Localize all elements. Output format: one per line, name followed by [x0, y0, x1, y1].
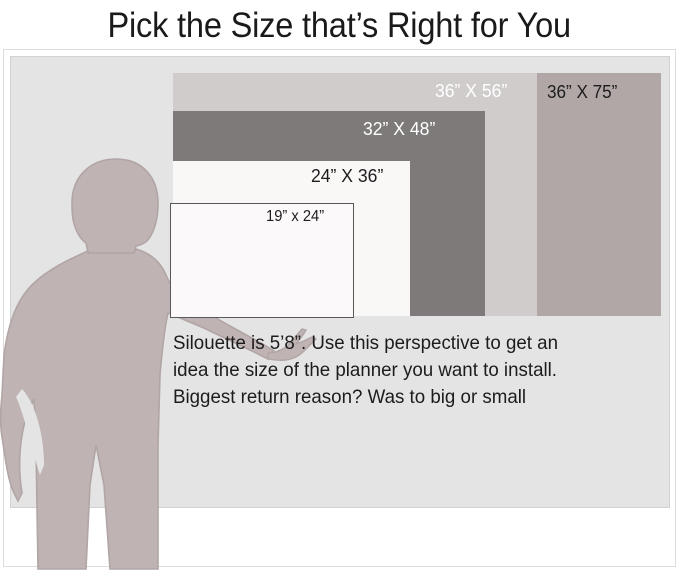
size-label-24x36: 24” X 36” — [311, 165, 383, 187]
caption-line-1: Silouette is 5’8”. Use this perspective … — [173, 330, 632, 357]
caption-line-3: Biggest return reason? Was to big or sma… — [173, 384, 632, 411]
size-comparison-infographic: Pick the Size that’s Right for You 36” X… — [0, 0, 679, 570]
caption-block: Silouette is 5’8”. Use this perspective … — [173, 330, 651, 411]
size-label-36x75: 36” X 75” — [547, 82, 617, 103]
page-title: Pick the Size that’s Right for You — [108, 6, 572, 46]
size-label-36x56: 36” X 56” — [435, 80, 507, 102]
title-bar: Pick the Size that’s Right for You — [0, 0, 679, 52]
size-label-32x48: 32” X 48” — [363, 118, 435, 140]
size-rect-36x75[interactable] — [537, 73, 661, 316]
size-rect-19x24[interactable] — [170, 203, 354, 318]
size-label-19x24: 19” x 24” — [266, 208, 324, 226]
caption-line-2: idea the size of the planner you want to… — [173, 357, 632, 384]
